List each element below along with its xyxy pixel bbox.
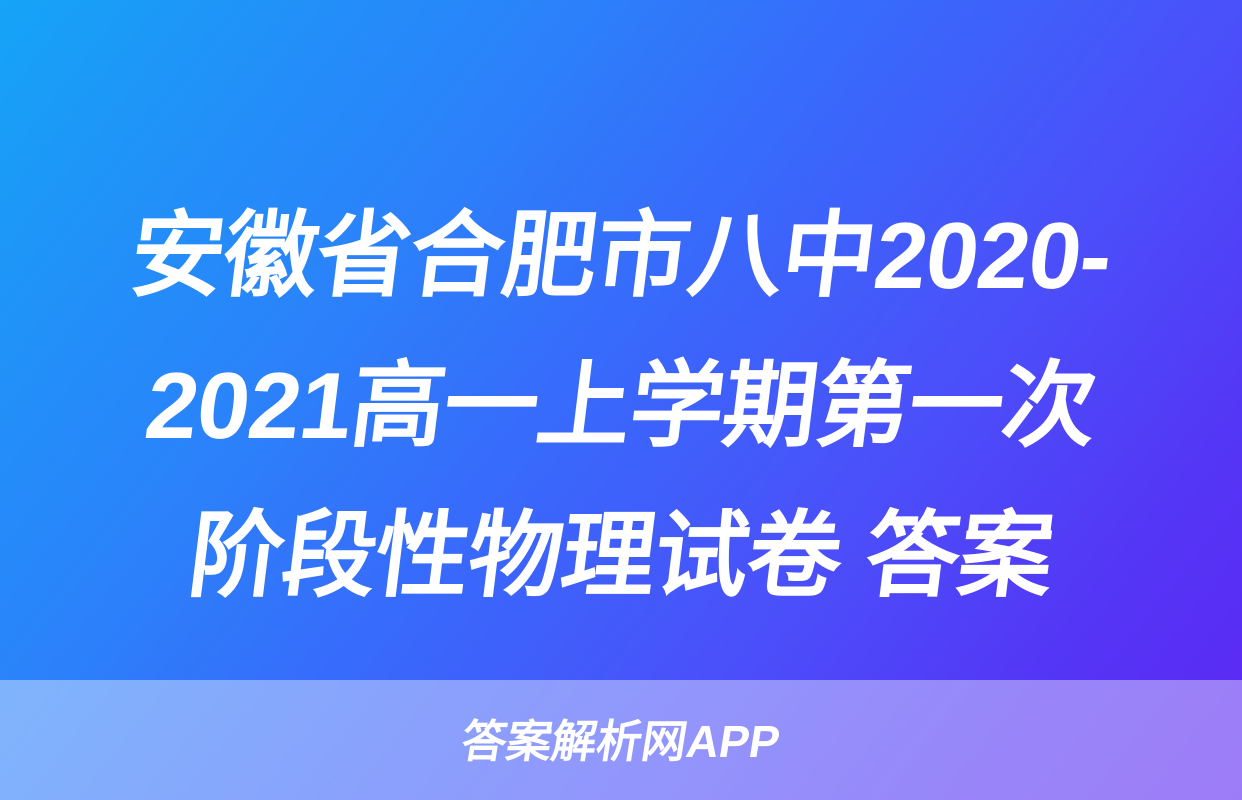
title-line-2: 2021高一上学期第一次 — [37, 331, 1205, 481]
title-line-1: 安徽省合肥市八中2020- — [37, 181, 1205, 331]
page-title: 安徽省合肥市八中2020- 2021高一上学期第一次 阶段性物理试卷 答案 — [0, 181, 1242, 621]
title-line-3: 阶段性物理试卷 答案 — [37, 481, 1205, 631]
answer-card-banner: 安徽省合肥市八中2020- 2021高一上学期第一次 阶段性物理试卷 答案 答案… — [0, 0, 1242, 800]
app-name-watermark: 答案解析网APP — [459, 719, 784, 764]
footer-watermark-band: 答案解析网APP — [0, 680, 1242, 800]
